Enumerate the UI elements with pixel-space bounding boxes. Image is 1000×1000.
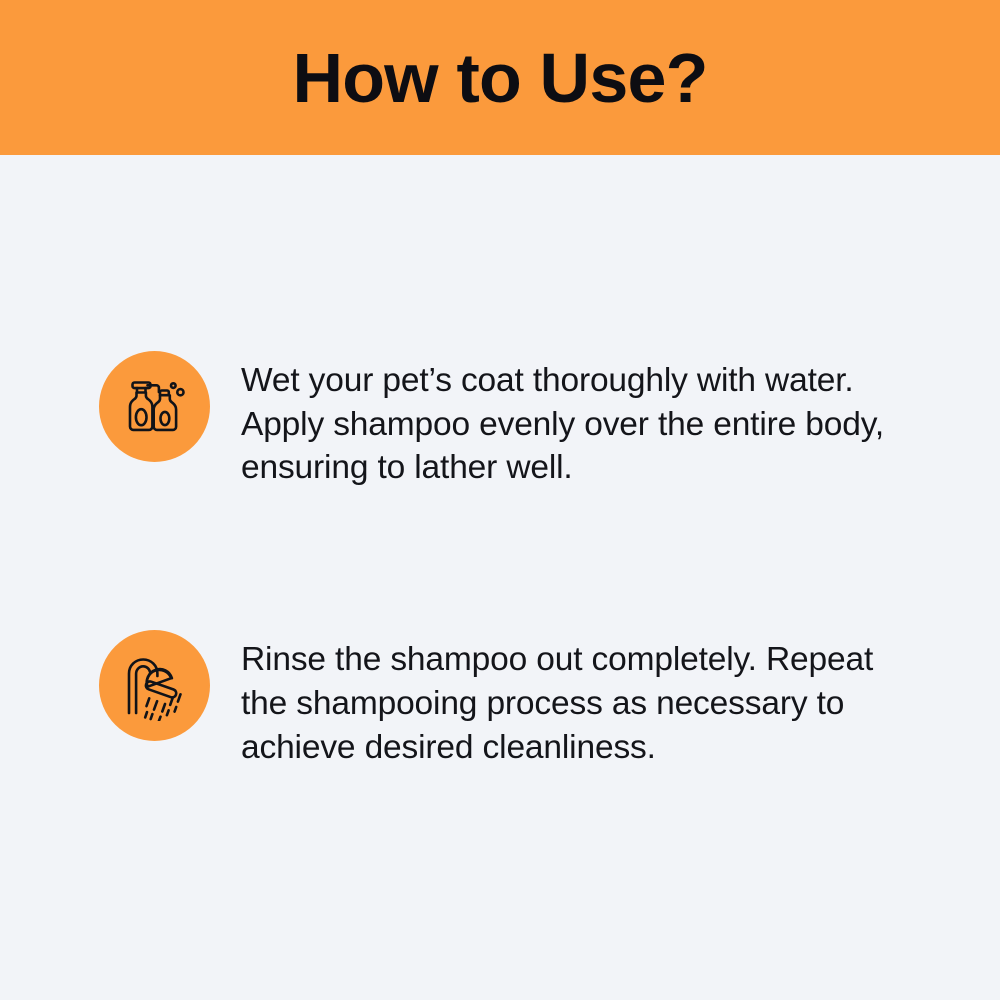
step-item: Rinse the shampoo out completely. Repeat… — [99, 630, 919, 769]
step-icon-badge — [99, 351, 210, 462]
header-banner: How to Use? — [0, 0, 1000, 155]
step-description: Rinse the shampoo out completely. Repeat… — [241, 630, 901, 769]
step-icon-badge — [99, 630, 210, 741]
steps-list: Wet your pet’s coat thoroughly with wate… — [99, 351, 919, 769]
step-item: Wet your pet’s coat thoroughly with wate… — [99, 351, 919, 490]
shampoo-bottles-icon — [121, 373, 189, 441]
step-description: Wet your pet’s coat thoroughly with wate… — [241, 351, 901, 490]
shower-head-icon — [120, 651, 190, 721]
how-to-use-page: How to Use? — [0, 0, 1000, 1000]
page-title: How to Use? — [292, 43, 707, 113]
